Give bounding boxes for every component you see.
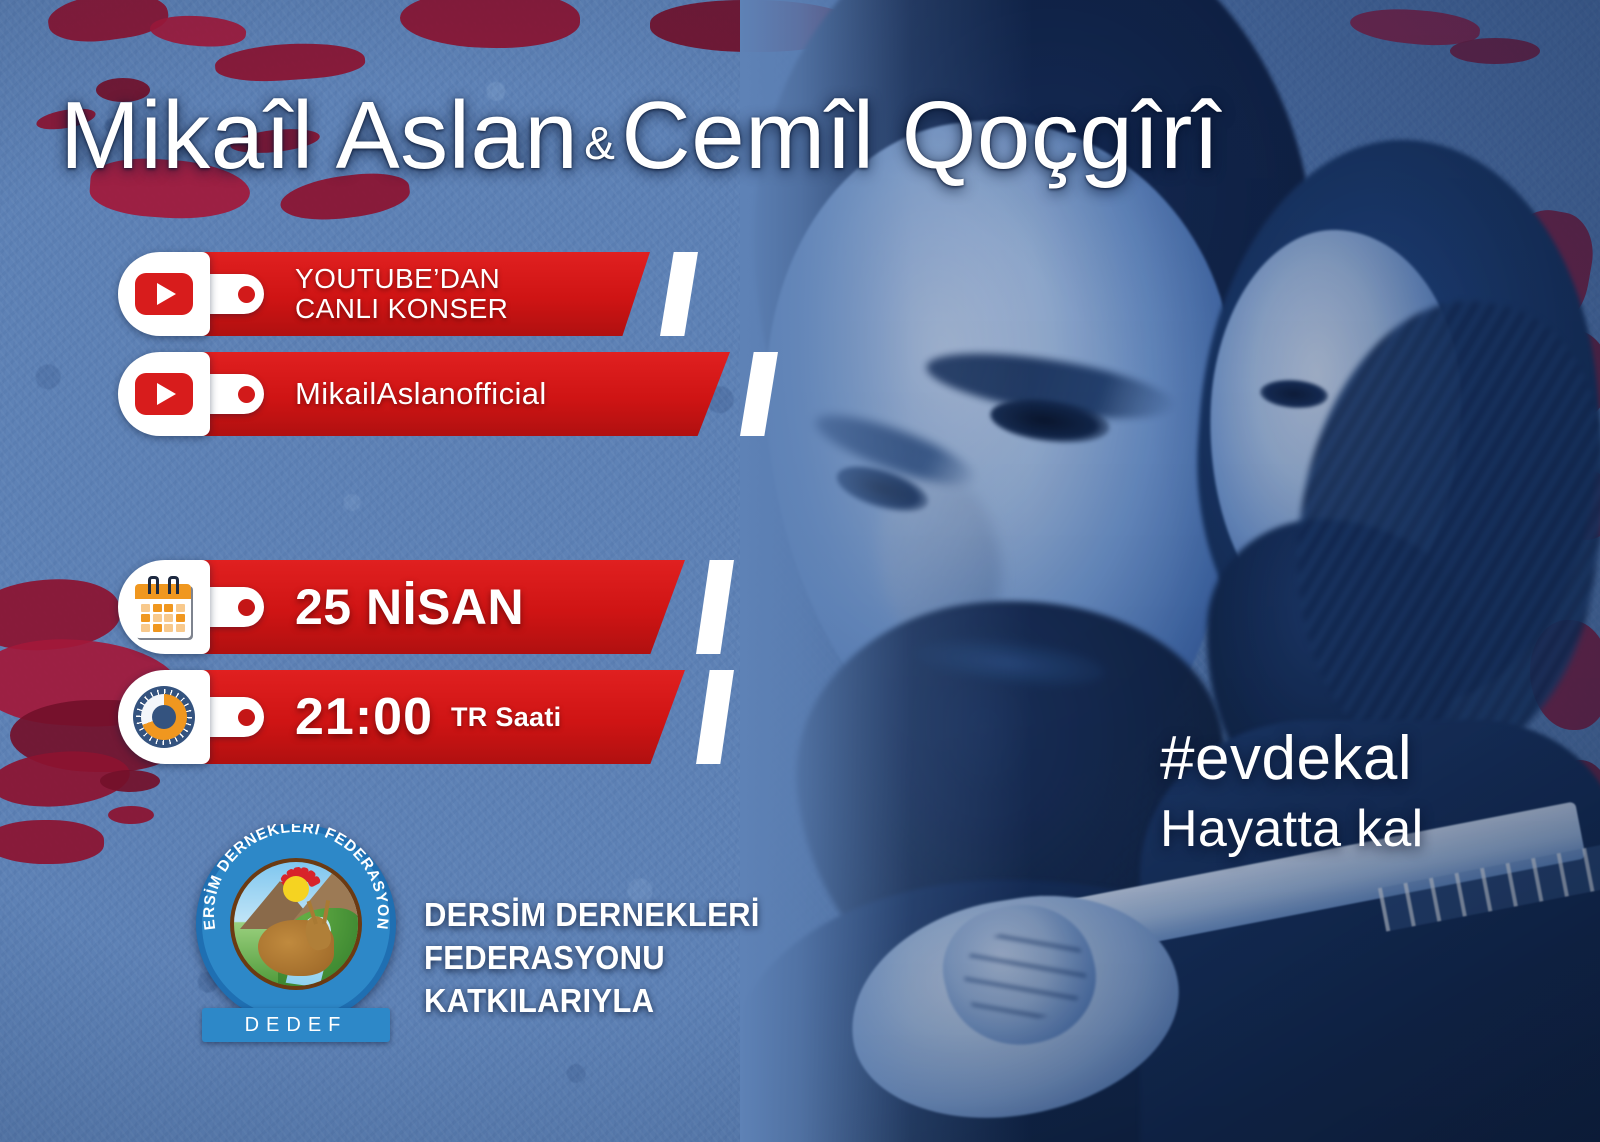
title-artist-two: Cemîl Qoçgîrî xyxy=(621,82,1220,189)
badge-key-dot xyxy=(238,286,255,303)
calendar-grid xyxy=(141,604,185,632)
badge-event-time[interactable]: 21:00 TR Saati xyxy=(118,670,264,764)
badge-bar: MikailAslanofficial xyxy=(190,352,730,436)
calendar-ring-left xyxy=(148,576,159,594)
badge-key-connector xyxy=(206,697,264,737)
youtube-glyph xyxy=(135,273,193,315)
badge-line-two: CANLI KONSER xyxy=(295,294,508,324)
logo-arc-text: DERSİM DERNEKLERİ FEDERASYONU xyxy=(196,824,396,1024)
youtube-glyph xyxy=(135,373,193,415)
info-badge-list: YOUTUBE’DAN CANLI KONSER MikailAslanoffi… xyxy=(118,252,264,780)
credit-line-one: DERSİM DERNEKLERİ xyxy=(424,894,760,937)
badge-text: YOUTUBE’DAN CANLI KONSER xyxy=(295,264,508,323)
calendar-icon xyxy=(118,560,210,654)
badge-youtube-live[interactable]: YOUTUBE’DAN CANLI KONSER xyxy=(118,252,264,336)
credit-line-two: FEDERASYONU xyxy=(424,937,760,980)
calendar-ring-right xyxy=(168,576,179,594)
badge-bar: 25 NİSAN xyxy=(190,560,685,654)
calendar-header xyxy=(135,584,191,599)
sponsor-credit-text: DERSİM DERNEKLERİ FEDERASYONU KATKILARIY… xyxy=(424,894,760,1023)
badge-key-dot xyxy=(238,709,255,726)
event-time-text: 21:00 xyxy=(295,687,433,747)
title-ampersand: & xyxy=(578,117,621,169)
credit-line-three: KATKILARIYLA xyxy=(424,980,760,1023)
title-artist-one: Mikaîl Aslan xyxy=(60,82,578,189)
badge-event-date[interactable]: 25 NİSAN xyxy=(118,560,264,654)
clock-center-hub xyxy=(152,705,176,729)
clock-glyph xyxy=(133,686,195,748)
campaign-hashtag: #evdekal xyxy=(1160,726,1423,792)
badge-key-connector xyxy=(206,374,264,414)
concert-poster: Mikaîl Aslan&Cemîl Qoçgîrî YOUTUBE’DAN C… xyxy=(0,0,1600,1142)
campaign-message: #evdekal Hayatta kal xyxy=(1160,726,1423,860)
play-triangle-icon xyxy=(157,283,176,305)
badge-key-connector xyxy=(206,587,264,627)
campaign-tagline: Hayatta kal xyxy=(1160,798,1423,860)
dedef-logo[interactable]: DERSİM DERNEKLERİ FEDERASYONU DEDEF xyxy=(196,824,396,1024)
badge-bar-content: MikailAslanofficial xyxy=(190,352,730,436)
event-date-text: 25 NİSAN xyxy=(295,578,524,636)
badge-line-one: YOUTUBE’DAN xyxy=(295,264,508,294)
badge-key-connector xyxy=(206,274,264,314)
badge-text: MikailAslanofficial xyxy=(295,378,547,411)
badge-key-dot xyxy=(238,599,255,616)
badge-bar: 21:00 TR Saati xyxy=(190,670,685,764)
youtube-play-icon xyxy=(118,352,210,436)
badge-key-dot xyxy=(238,386,255,403)
page-title: Mikaîl Aslan&Cemîl Qoçgîrî xyxy=(60,88,1220,184)
badge-youtube-channel[interactable]: MikailAslanofficial xyxy=(118,352,264,436)
play-triangle-icon xyxy=(157,383,176,405)
clock-icon xyxy=(118,670,210,764)
badge-group-spacer xyxy=(118,452,264,560)
youtube-play-icon xyxy=(118,252,210,336)
calendar-glyph xyxy=(135,576,193,638)
badge-bar-content: 21:00 TR Saati xyxy=(190,670,685,764)
event-timezone-text: TR Saati xyxy=(451,702,561,733)
svg-text:DERSİM DERNEKLERİ FEDERASYONU: DERSİM DERNEKLERİ FEDERASYONU xyxy=(196,824,391,931)
sponsor-block: DERSİM DERNEKLERİ FEDERASYONU DEDEF DERS… xyxy=(196,824,781,1024)
badge-bar-content: 25 NİSAN xyxy=(190,560,685,654)
